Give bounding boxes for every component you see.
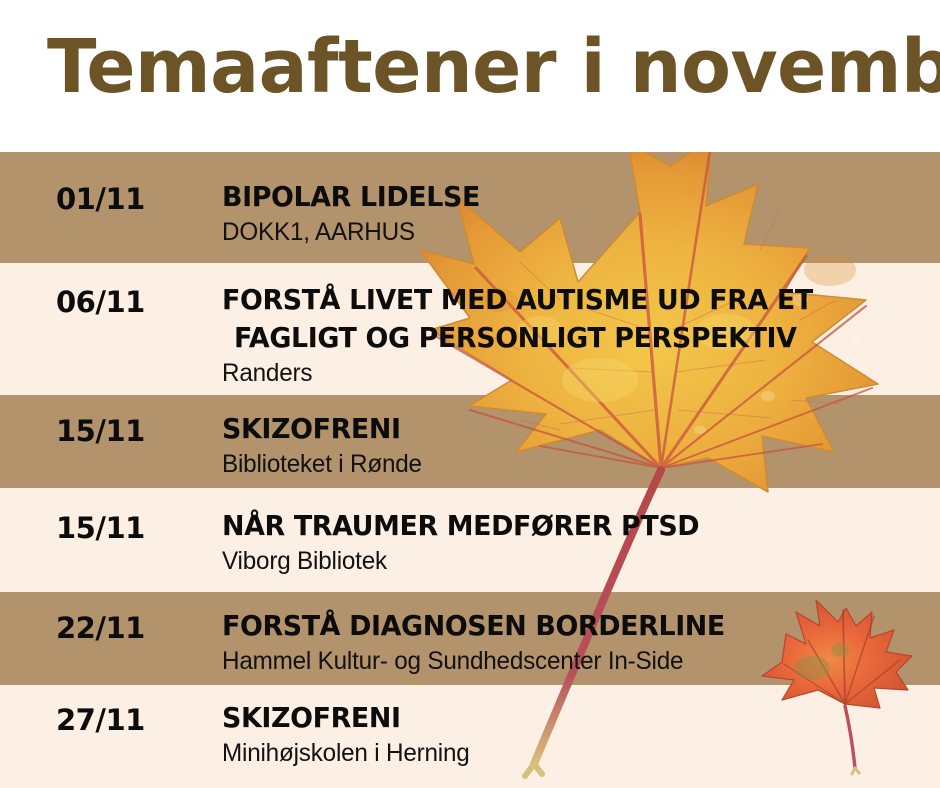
title-bar: Temaaftener i november	[0, 0, 940, 152]
event-title: SKIZOFRENI	[222, 699, 894, 737]
event-title: BIPOLAR LIDELSE	[222, 178, 894, 216]
event-date: 27/11	[56, 703, 206, 737]
event-row-5: 22/11 FORSTÅ DIAGNOSEN BORDERLINE Hammel…	[0, 592, 940, 685]
event-date: 06/11	[56, 285, 206, 319]
event-row-2: 06/11 FORSTÅ LIVET MED AUTISME UD FRA ET…	[0, 263, 940, 395]
event-date: 15/11	[56, 511, 206, 545]
event-row-6: 27/11 SKIZOFRENI Minihøjskolen i Herning	[0, 685, 940, 788]
event-date: 01/11	[56, 182, 206, 216]
event-venue: Randers	[222, 357, 901, 390]
event-date: 15/11	[56, 414, 206, 448]
event-row-4: 15/11 NÅR TRAUMER MEDFØRER PTSD Viborg B…	[0, 488, 940, 592]
event-body: SKIZOFRENI Biblioteket i Rønde	[222, 410, 922, 481]
event-body: NÅR TRAUMER MEDFØRER PTSD Viborg Bibliot…	[222, 507, 922, 578]
event-body: FORSTÅ DIAGNOSEN BORDERLINE Hammel Kultu…	[222, 607, 922, 678]
event-body: BIPOLAR LIDELSE DOKK1, AARHUS	[222, 178, 922, 249]
event-row-3: 15/11 SKIZOFRENI Biblioteket i Rønde	[0, 395, 940, 488]
event-title: FORSTÅ DIAGNOSEN BORDERLINE	[222, 607, 894, 645]
event-body: SKIZOFRENI Minihøjskolen i Herning	[222, 699, 922, 770]
event-venue: Biblioteket i Rønde	[222, 448, 901, 481]
event-title: FORSTÅ LIVET MED AUTISME UD FRA ET	[222, 281, 894, 319]
event-row-1: 01/11 BIPOLAR LIDELSE DOKK1, AARHUS	[0, 152, 940, 263]
page-title: Temaaftener i november	[47, 24, 940, 110]
event-body: FORSTÅ LIVET MED AUTISME UD FRA ET FAGLI…	[222, 281, 922, 390]
event-title: SKIZOFRENI	[222, 410, 894, 448]
event-venue: DOKK1, AARHUS	[222, 216, 901, 249]
event-venue: Viborg Bibliotek	[222, 545, 901, 578]
event-venue: Hammel Kultur- og Sundhedscenter In-Side	[222, 645, 901, 678]
poster-canvas: Temaaftener i november 01/11 BIPOLAR LID…	[0, 0, 940, 788]
event-venue: Minihøjskolen i Herning	[222, 737, 901, 770]
event-date: 22/11	[56, 611, 206, 645]
event-title-line2: FAGLIGT OG PERSONLIGT PERSPEKTIV	[234, 319, 894, 357]
event-title: NÅR TRAUMER MEDFØRER PTSD	[222, 507, 894, 545]
